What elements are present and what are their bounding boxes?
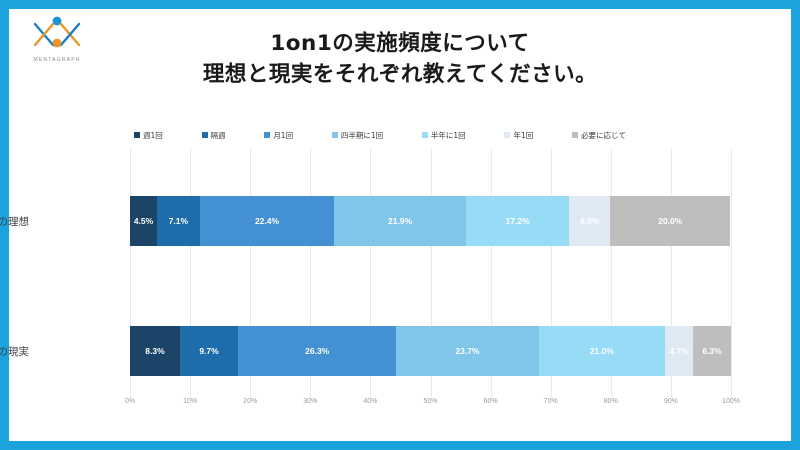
legend-label: 隔週	[211, 130, 226, 141]
bar-segment-value: 22.4%	[255, 216, 279, 226]
x-axis-tick-70: 70%	[544, 398, 558, 405]
legend-swatch-icon	[572, 132, 578, 138]
bar-segment[interactable]: 26.3%	[238, 326, 396, 376]
legend-item-5[interactable]: 半年に1回	[422, 130, 466, 141]
legend-item-2[interactable]: 隔週	[202, 130, 226, 141]
x-axis-tick-10: 10%	[183, 398, 197, 405]
x-axis-tick-0: 0%	[125, 398, 135, 405]
bar-segment[interactable]: 21.0%	[539, 326, 665, 376]
bar-segment-value: 8.3%	[145, 346, 164, 356]
legend-label: 四半期に1回	[341, 130, 383, 141]
legend-swatch-icon	[134, 132, 140, 138]
category-label-1: 部下の理想	[0, 214, 29, 229]
chart-legend: 週1回隔週月1回四半期に1回半年に1回年1回必要に応じて	[130, 126, 630, 144]
legend-label: 必要に応じて	[581, 130, 626, 141]
legend-item-3[interactable]: 月1回	[264, 130, 293, 141]
bar-segment-value: 21.9%	[388, 216, 412, 226]
bar-segment-value: 21.0%	[590, 346, 614, 356]
legend-item-7[interactable]: 必要に応じて	[572, 130, 626, 141]
bar-2: 8.3%9.7%26.3%23.7%21.0%4.7%6.3%	[130, 326, 731, 376]
stacked-bar-chart: 週1回隔週月1回四半期に1回半年に1回年1回必要に応じて 部下の理想4.5%7.…	[34, 126, 734, 418]
slide-canvas: MENTAGRAPH 1on1の実施頻度について 理想と現実をそれぞれ教えてくだ…	[0, 0, 800, 450]
bar-segment-value: 7.1%	[169, 216, 188, 226]
x-axis-tick-100: 100%	[722, 398, 740, 405]
x-axis-tick-50: 50%	[423, 398, 437, 405]
bar-segment[interactable]: 4.7%	[665, 326, 693, 376]
bar-segment-value: 9.7%	[199, 346, 218, 356]
bar-segment-value: 23.7%	[455, 346, 479, 356]
x-axis-tick-80: 80%	[604, 398, 618, 405]
legend-item-4[interactable]: 四半期に1回	[332, 130, 383, 141]
legend-swatch-icon	[202, 132, 208, 138]
bar-segment-value: 26.3%	[305, 346, 329, 356]
bar-1: 4.5%7.1%22.4%21.9%17.2%6.8%20.0%	[130, 196, 731, 246]
bar-segment[interactable]: 22.4%	[200, 196, 335, 246]
bar-segment-value: 17.2%	[506, 216, 530, 226]
bar-segment[interactable]: 4.5%	[130, 196, 157, 246]
legend-swatch-icon	[504, 132, 510, 138]
x-axis-tick-90: 90%	[664, 398, 678, 405]
bar-segment-value: 20.0%	[658, 216, 682, 226]
x-axis-tick-60: 60%	[484, 398, 498, 405]
legend-swatch-icon	[264, 132, 270, 138]
legend-label: 年1回	[513, 130, 533, 141]
bar-segment[interactable]: 17.2%	[466, 196, 569, 246]
bar-segment-value: 6.8%	[580, 216, 599, 226]
bar-segment-value: 4.7%	[669, 346, 688, 356]
bar-segment-value: 6.3%	[702, 346, 721, 356]
x-axis-tick-30: 30%	[303, 398, 317, 405]
bar-segment-value: 4.5%	[134, 216, 153, 226]
page-title-line-1: 1on1の実施頻度について	[0, 28, 800, 59]
bar-segment[interactable]: 9.7%	[180, 326, 238, 376]
legend-label: 半年に1回	[431, 130, 466, 141]
x-axis-tick-40: 40%	[363, 398, 377, 405]
bar-segment[interactable]: 20.0%	[610, 196, 730, 246]
bar-segment[interactable]: 23.7%	[396, 326, 538, 376]
legend-label: 週1回	[143, 130, 163, 141]
chart-plot-area: 部下の理想4.5%7.1%22.4%21.9%17.2%6.8%20.0%上司の…	[130, 148, 731, 398]
x-axis-tick-20: 20%	[243, 398, 257, 405]
legend-item-6[interactable]: 年1回	[504, 130, 533, 141]
legend-swatch-icon	[332, 132, 338, 138]
gridline-100	[731, 148, 732, 398]
legend-label: 月1回	[273, 130, 293, 141]
bar-segment[interactable]: 8.3%	[130, 326, 180, 376]
chart-x-axis: 0%10%20%30%40%50%60%70%80%90%100%	[130, 398, 731, 412]
slide-border-bottom	[0, 441, 800, 450]
bar-segment[interactable]: 6.3%	[693, 326, 731, 376]
bar-segment[interactable]: 7.1%	[157, 196, 200, 246]
bar-segment[interactable]: 6.8%	[569, 196, 610, 246]
slide-border-top	[0, 0, 800, 9]
page-title-line-2: 理想と現実をそれぞれ教えてください。	[0, 59, 800, 90]
legend-item-1[interactable]: 週1回	[134, 130, 163, 141]
category-label-2: 上司の現実	[0, 344, 29, 359]
bar-segment[interactable]: 21.9%	[334, 196, 466, 246]
page-title: 1on1の実施頻度について 理想と現実をそれぞれ教えてください。	[0, 28, 800, 90]
legend-swatch-icon	[422, 132, 428, 138]
